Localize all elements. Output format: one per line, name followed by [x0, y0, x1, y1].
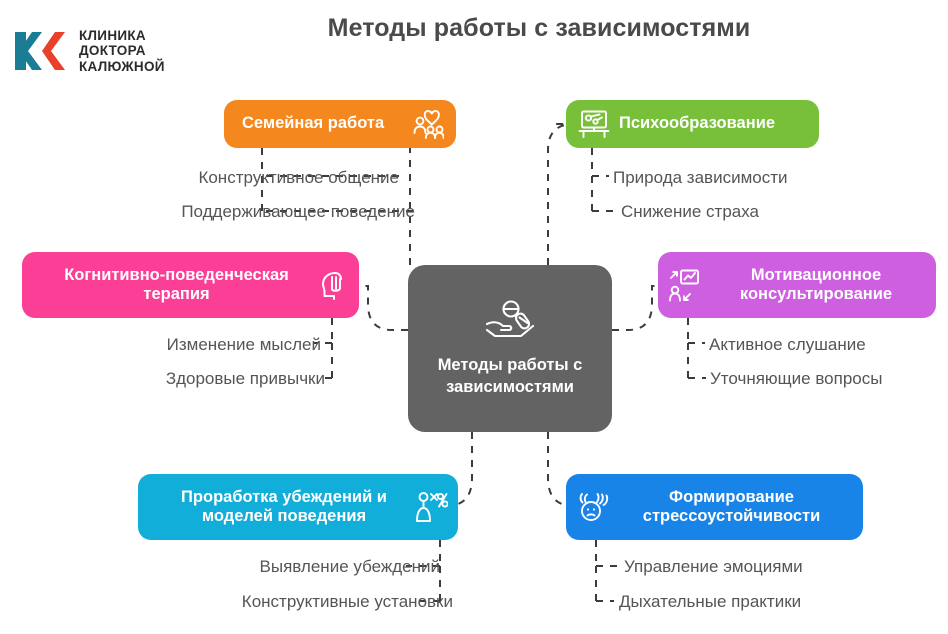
connector-center-cbt	[359, 286, 408, 330]
sub-label-motivational-2: Уточняющие вопросы	[710, 370, 882, 387]
person-percent-icon	[414, 490, 448, 524]
page-title-text: Методы работы с зависимостями	[198, 14, 751, 43]
branch-label-beliefs: Проработка убеждений и моделей поведения	[154, 488, 414, 527]
sub-label-family-1: Конструктивное общение	[198, 169, 399, 186]
sub-label-cbt-1: Изменение мыслей	[167, 336, 321, 353]
logo-line-2: ДОКТОРА	[79, 43, 165, 58]
infographic-canvas: КЛИНИКА ДОКТОРА КАЛЮЖНОЙ Методы работы с…	[0, 0, 948, 634]
sub-label-family-2: Поддерживающее поведение	[181, 203, 415, 220]
sub-label-psychoeducation-1: Природа зависимости	[613, 169, 788, 186]
branch-label-psychoeducation: Психообразование	[610, 114, 801, 133]
person-chart-arrows-icon	[668, 268, 704, 302]
logo-line-3: КАЛЮЖНОЙ	[79, 59, 165, 74]
sub-label-cbt-2: Здоровые привычки	[166, 370, 325, 387]
sub-label-stress-1: Управление эмоциями	[624, 558, 803, 575]
sub-label-stress-2: Дыхательные практики	[619, 593, 801, 610]
branch-node-motivational[interactable]: Мотивационное консультирование	[658, 252, 936, 318]
central-node-label: Методы работы с зависимостями	[408, 355, 612, 399]
head-thought-icon	[315, 268, 349, 302]
branch-node-psychoeducation[interactable]: Психообразование	[566, 100, 819, 148]
branch-label-stress: Формирование стрессоустойчивости	[612, 488, 847, 527]
branch-label-family: Семейная работа	[242, 114, 410, 133]
page-title: Методы работы с зависимостями	[0, 14, 948, 43]
branch-node-family[interactable]: Семейная работа	[224, 100, 456, 148]
presentation-board-icon	[578, 108, 610, 140]
connector-center-motivational	[612, 286, 658, 330]
branch-label-motivational: Мотивационное консультирование	[704, 266, 922, 305]
sub-label-beliefs-2: Конструктивные установки	[242, 593, 453, 610]
stressed-head-icon	[576, 490, 612, 524]
sub-label-beliefs-1: Выявление убеждений	[260, 558, 440, 575]
branch-label-cbt: Когнитивно-поведенческая терапия	[38, 266, 315, 305]
branch-node-beliefs[interactable]: Проработка убеждений и моделей поведения	[138, 474, 458, 540]
hand-holding-pills-icon	[481, 299, 539, 346]
branch-node-cbt[interactable]: Когнитивно-поведенческая терапия	[22, 252, 359, 318]
sub-label-motivational-1: Активное слушание	[709, 336, 866, 353]
branch-node-stress[interactable]: Формирование стрессоустойчивости	[566, 474, 863, 540]
family-heart-icon	[410, 108, 444, 140]
central-node[interactable]: Методы работы с зависимостями	[408, 265, 612, 432]
sub-label-psychoeducation-2: Снижение страха	[621, 203, 759, 220]
